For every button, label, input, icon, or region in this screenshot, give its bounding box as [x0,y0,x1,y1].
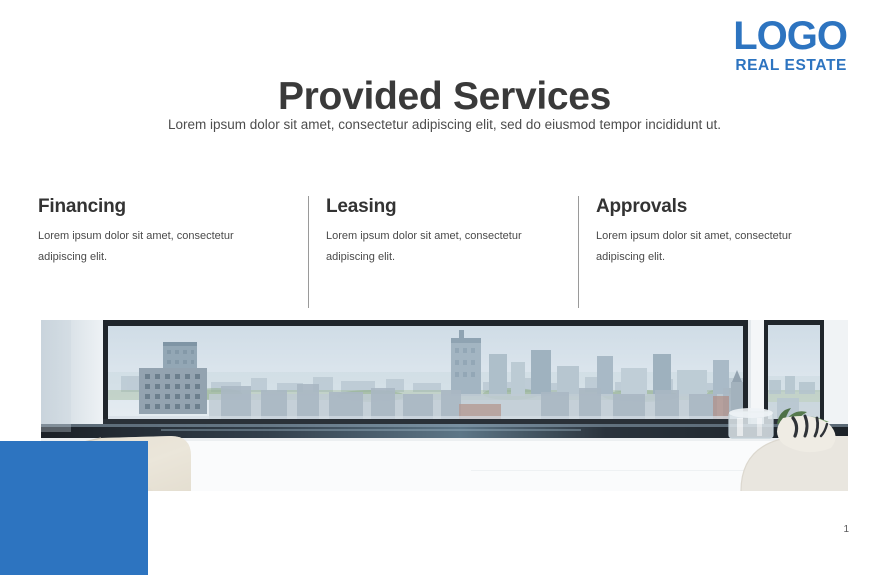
services-columns: Financing Lorem ipsum dolor sit amet, co… [38,196,850,308]
logo-wordmark: LOGO [733,16,847,56]
service-body: Lorem ipsum dolor sit amet, consectetur … [596,226,824,269]
service-column-financing: Financing Lorem ipsum dolor sit amet, co… [38,196,308,308]
service-heading: Financing [38,196,290,218]
accent-square [0,441,148,575]
service-column-approvals: Approvals Lorem ipsum dolor sit amet, co… [578,196,848,308]
page-subtitle: Lorem ipsum dolor sit amet, consectetur … [0,117,889,132]
service-heading: Leasing [326,196,560,218]
service-heading: Approvals [596,196,830,218]
hero-photo [41,320,848,491]
slide: LOGO REAL ESTATE Provided Services Lorem… [0,0,889,575]
logo[interactable]: LOGO REAL ESTATE [733,16,847,74]
logo-tagline: REAL ESTATE [733,58,847,74]
service-column-leasing: Leasing Lorem ipsum dolor sit amet, cons… [308,196,578,308]
service-body: Lorem ipsum dolor sit amet, consectetur … [326,226,554,269]
page-title: Provided Services [0,75,889,119]
page-number: 1 [843,524,849,535]
service-body: Lorem ipsum dolor sit amet, consectetur … [38,226,266,269]
